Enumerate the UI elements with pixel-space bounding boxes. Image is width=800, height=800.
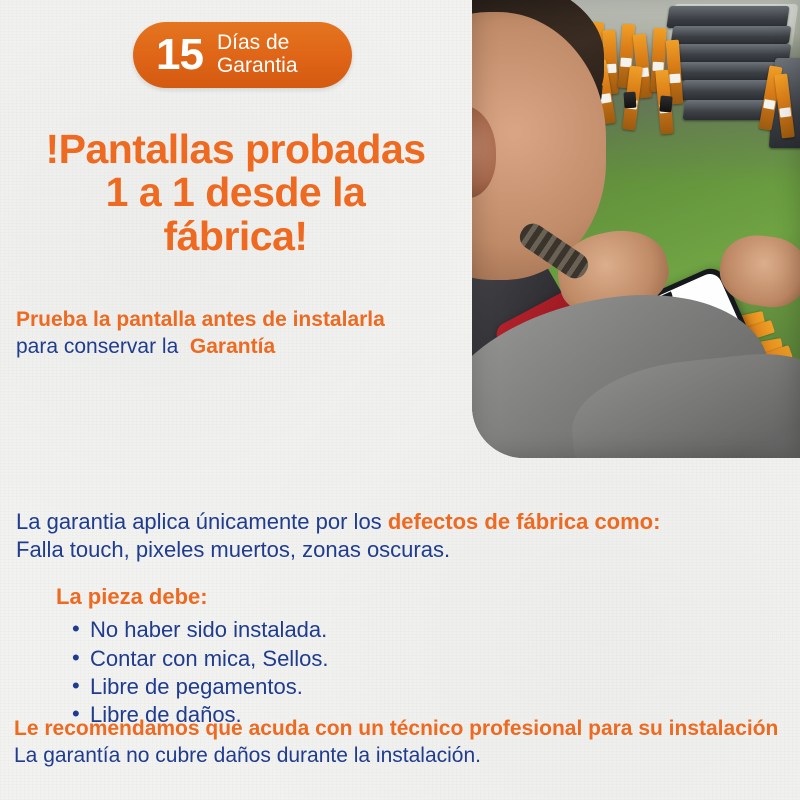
subheadline-line-2: para conservar la Garantía [16, 333, 466, 360]
subheadline-emphasis: Garantía [190, 335, 275, 358]
promo-poster: 15 Días de Garantia !Pantallas probadas … [0, 0, 800, 800]
conditions-list: No haber sido instalada. Contar con mica… [16, 616, 788, 730]
footer-disclaimer: La garantía no cubre daños durante la in… [14, 744, 481, 767]
badge-label-line1: Días de [217, 31, 289, 54]
badge-label-line2: Garantia [217, 54, 298, 77]
technician-testing-photo [472, 0, 800, 458]
warranty-details: La garantia aplica únicamente por los de… [16, 508, 788, 730]
subheadline: Prueba la pantalla antes de instalarla p… [16, 306, 466, 361]
warranty-scope-line: La garantia aplica únicamente por los de… [16, 508, 788, 536]
badge-number: 15 [156, 33, 203, 77]
headline-line-1: !Pantallas probadas [8, 128, 463, 171]
footer-note: Le recomendamos que acuda con un técnico… [14, 716, 792, 770]
conditions-title: La pieza debe: [56, 584, 788, 610]
page-title: !Pantallas probadas 1 a 1 desde la fábri… [8, 128, 463, 258]
warranty-days-badge: 15 Días de Garantia [133, 22, 352, 88]
headline-line-2: 1 a 1 desde la [8, 171, 463, 214]
defects-line: Falla touch, pixeles muertos, zonas oscu… [16, 536, 788, 564]
list-item: No haber sido instalada. [72, 616, 788, 644]
footer-recommendation: Le recomendamos que acuda con un técnico… [14, 717, 778, 740]
list-item: Libre de pegamentos. [72, 673, 788, 701]
photo-vignette [472, 0, 800, 458]
warranty-scope-emphasis: defectos de fábrica como: [388, 509, 661, 534]
subheadline-prefix: para conservar la [16, 335, 178, 358]
headline-line-3: fábrica! [8, 215, 463, 258]
warranty-scope-text: La garantia aplica únicamente por los [16, 509, 382, 534]
list-item: Contar con mica, Sellos. [72, 645, 788, 673]
subheadline-line-1: Prueba la pantalla antes de instalarla [16, 306, 466, 333]
badge-label: Días de Garantia [217, 32, 298, 77]
